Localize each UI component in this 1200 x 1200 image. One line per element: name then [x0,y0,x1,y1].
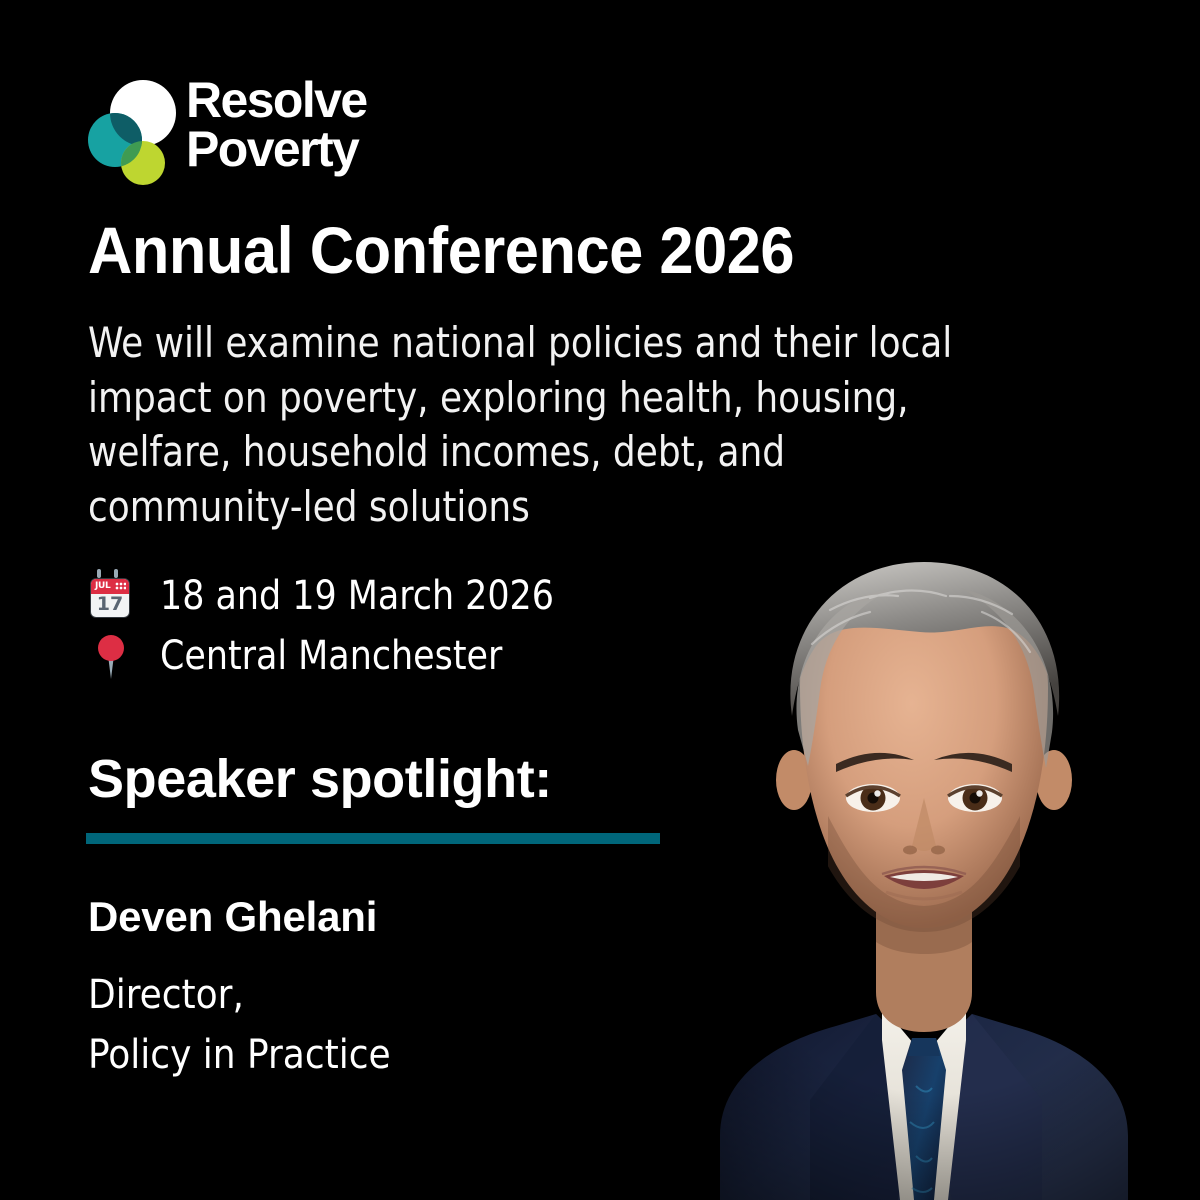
resolve-poverty-logo[interactable]: Resolve Poverty [88,78,418,196]
calendar-icon: JUL 17 [88,573,134,619]
event-meta: JUL 17 18 and 19 March 2026 Central Manc… [88,566,566,686]
logo-mark-icon [88,78,180,188]
speaker-spotlight-label: Speaker spotlight: [88,748,552,810]
description-line-2: impact on poverty, exploring health, hou… [88,371,1048,426]
speaker-portrait-image [660,540,1200,1200]
event-date-text: 18 and 19 March 2026 [160,576,554,616]
description-line-1: We will examine national policies and th… [88,316,1048,371]
speaker-name: Deven Ghelani [88,893,377,941]
speaker-role: Director, Policy in Practice [88,965,391,1085]
page-title: Annual Conference 2026 [88,216,794,285]
logo-wordmark-line1: Resolve [186,76,426,125]
event-date-row: JUL 17 18 and 19 March 2026 [88,566,566,626]
description-line-3: welfare, household incomes, debt, and [88,425,1048,480]
logo-wordmark-line2: Poverty [186,125,426,174]
event-location-row: Central Manchester [88,626,566,686]
location-pin-icon [88,633,134,679]
calendar-icon-day: 17 [91,593,129,615]
poster-description: We will examine national policies and th… [88,316,1048,534]
conference-promo-poster: Resolve Poverty Annual Conference 2026 W… [0,0,1200,1200]
description-line-4: community-led solutions [88,480,1048,535]
speaker-role-line-1: Director, [88,965,391,1025]
speaker-portrait [660,540,1200,1200]
speaker-role-line-2: Policy in Practice [88,1025,391,1085]
logo-wordmark: Resolve Poverty [186,76,426,188]
event-location-text: Central Manchester [160,636,502,676]
calendar-icon-month: JUL [95,581,111,591]
